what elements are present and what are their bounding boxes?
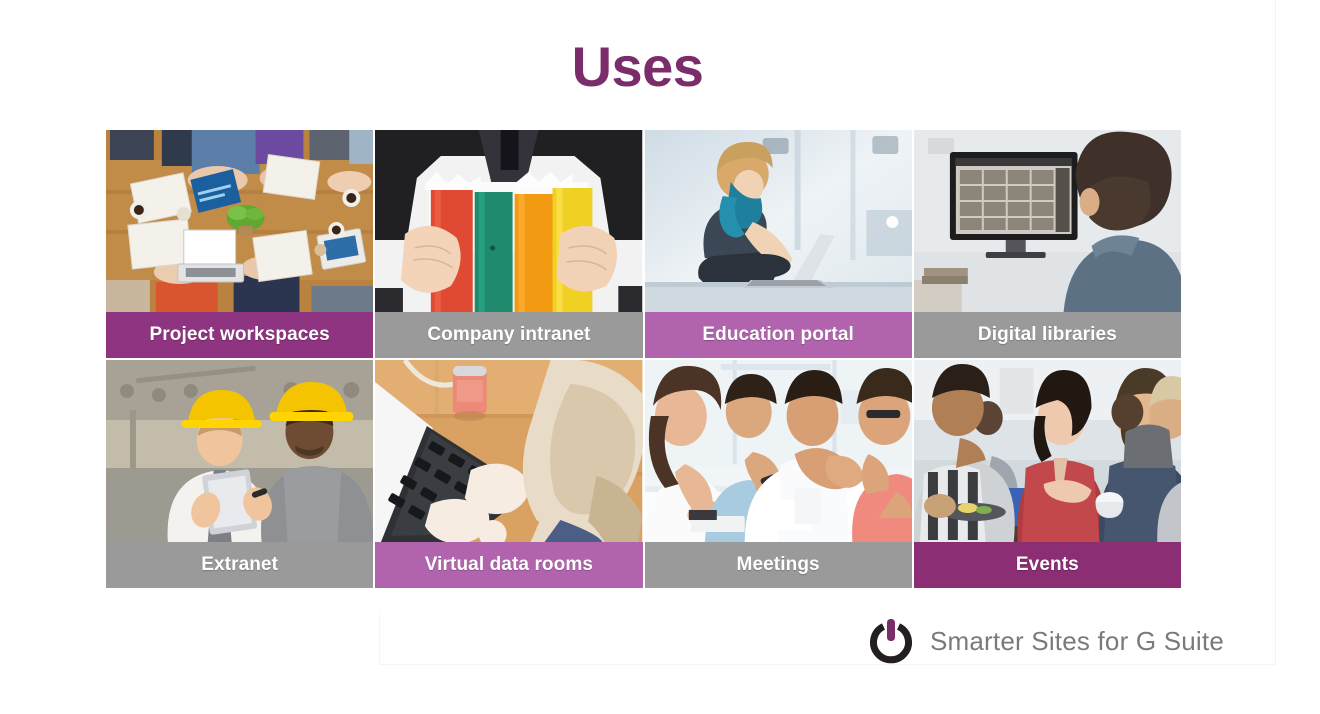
slide-boundary-right [1275,0,1276,665]
uses-grid: Project workspaces [106,130,1181,588]
tile-caption-events: Events [914,542,1181,588]
tile-caption-extranet: Extranet [106,542,373,588]
tile-photo-group-meeting-around-white-table [645,360,912,542]
tile-photo-person-viewing-image-grid-on-monitor [914,130,1181,312]
tile-photo-people-networking-at-event [914,360,1181,542]
grid-tile-meetings[interactable]: Meetings [645,360,912,588]
grid-tile-virtual-data-rooms[interactable]: Virtual data rooms [375,360,642,588]
tile-caption-company-intranet: Company intranet [375,312,642,358]
tile-photo-team-collaborating-around-wooden-table-overhead [106,130,373,312]
tile-photo-woman-sitting-on-floor-with-laptop [645,130,912,312]
grid-tile-extranet[interactable]: Extranet [106,360,373,588]
presentation-slide: Uses [0,0,1320,714]
tile-photo-two-workers-with-hard-hats-and-tablet [106,360,373,542]
slide-boundary-left [379,610,380,665]
brand-name: Smarter Sites for G Suite [930,626,1224,657]
grid-tile-events[interactable]: Events [914,360,1181,588]
brand-footer: Smarter Sites for G Suite [868,616,1224,666]
grid-tile-company-intranet[interactable]: Company intranet [375,130,642,358]
tile-caption-meetings: Meetings [645,542,912,588]
grid-tile-project-workspaces[interactable]: Project workspaces [106,130,373,358]
grid-tile-education-portal[interactable]: Education portal [645,130,912,358]
page-title: Uses [0,34,1275,99]
grid-tile-digital-libraries[interactable]: Digital libraries [914,130,1181,358]
tile-caption-project-workspaces: Project workspaces [106,312,373,358]
tile-caption-digital-libraries: Digital libraries [914,312,1181,358]
power-button-icon [868,616,914,666]
tile-photo-person-in-suit-holding-colorful-binders [375,130,642,312]
tile-photo-person-typing-on-laptop-overhead-with-soda-can [375,360,642,542]
tile-caption-virtual-data-rooms: Virtual data rooms [375,542,642,588]
tile-caption-education-portal: Education portal [645,312,912,358]
